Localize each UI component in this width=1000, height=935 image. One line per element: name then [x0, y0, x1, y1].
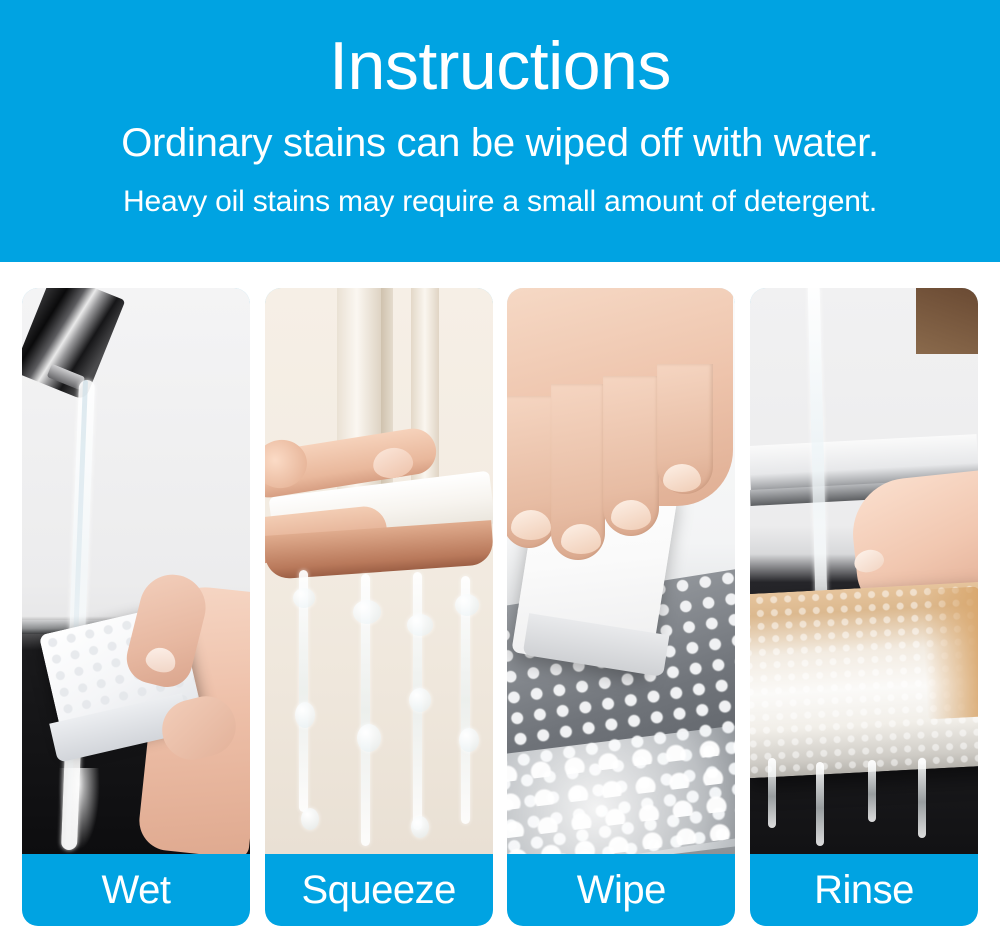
water-bead — [411, 816, 429, 838]
fingernail — [511, 510, 551, 540]
water-bead — [295, 702, 315, 728]
fingernail — [611, 500, 651, 530]
step-label-rinse: Rinse — [750, 854, 978, 926]
water-bead — [353, 600, 381, 624]
water-drip — [816, 762, 824, 846]
water-drip — [918, 758, 926, 838]
banner-subtitle-secondary: Heavy oil stains may require a small amo… — [0, 182, 1000, 222]
step-photo-rinse — [750, 288, 978, 854]
water-drip — [768, 758, 776, 828]
water-splash — [58, 768, 100, 850]
step-label-wet: Wet — [22, 854, 250, 926]
wood-accent — [916, 288, 978, 354]
step-label-squeeze: Squeeze — [265, 854, 493, 926]
water-bead — [455, 594, 479, 616]
water-bead — [293, 588, 315, 608]
step-card-squeeze[interactable]: Squeeze — [265, 288, 493, 926]
step-photo-squeeze — [265, 288, 493, 854]
step-card-wipe[interactable]: Wipe — [507, 288, 735, 926]
page-title: Instructions — [0, 26, 1000, 106]
water-bead — [357, 724, 381, 752]
instructions-banner: Instructions Ordinary stains can be wipe… — [0, 0, 1000, 262]
water-bead — [407, 614, 433, 636]
step-photo-wet — [22, 288, 250, 854]
sponge-stain — [921, 587, 978, 720]
water-bead — [301, 808, 319, 830]
water-bead — [459, 728, 479, 752]
water-bead — [409, 688, 431, 712]
step-card-rinse[interactable]: Rinse — [750, 288, 978, 926]
step-card-wet[interactable]: Wet — [22, 288, 250, 926]
water-drip — [868, 760, 876, 822]
step-label-wipe: Wipe — [507, 854, 735, 926]
step-photo-wipe — [507, 288, 735, 854]
fingernail — [663, 464, 701, 492]
steps-gallery: Wet Sq — [22, 288, 978, 926]
fingernail — [561, 524, 601, 554]
banner-subtitle-primary: Ordinary stains can be wiped off with wa… — [0, 118, 1000, 168]
